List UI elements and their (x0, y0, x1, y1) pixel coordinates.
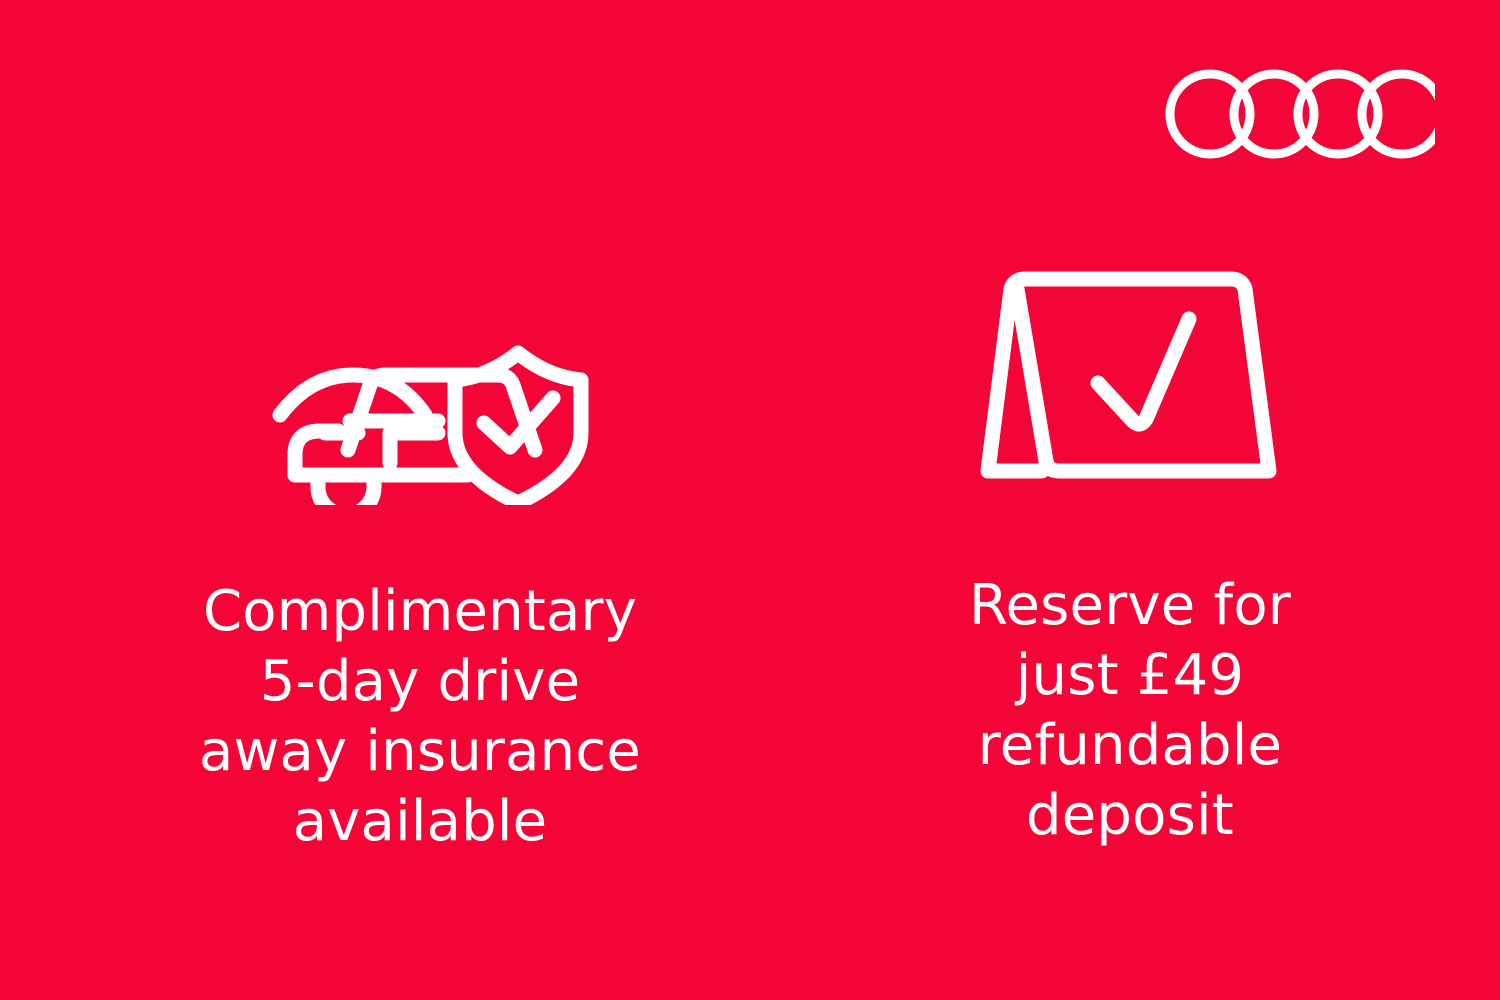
car-shield-icon (250, 255, 590, 505)
tent-front-panel (1017, 279, 1269, 471)
feature-list: Complimentary 5-day drive away insurance… (0, 0, 1500, 1000)
feature-item-insurance: Complimentary 5-day drive away insurance… (120, 255, 720, 857)
promo-banner: Complimentary 5-day drive away insurance… (0, 0, 1500, 1000)
tent-check-icon (1098, 319, 1189, 424)
feature-item-deposit: Reserve for just £49 refundable deposit (900, 255, 1360, 851)
calendar-tent-check-icon (980, 255, 1280, 495)
feature-caption-deposit: Reserve for just £49 refundable deposit (969, 571, 1291, 851)
feature-caption-insurance: Complimentary 5-day drive away insurance… (199, 577, 641, 857)
